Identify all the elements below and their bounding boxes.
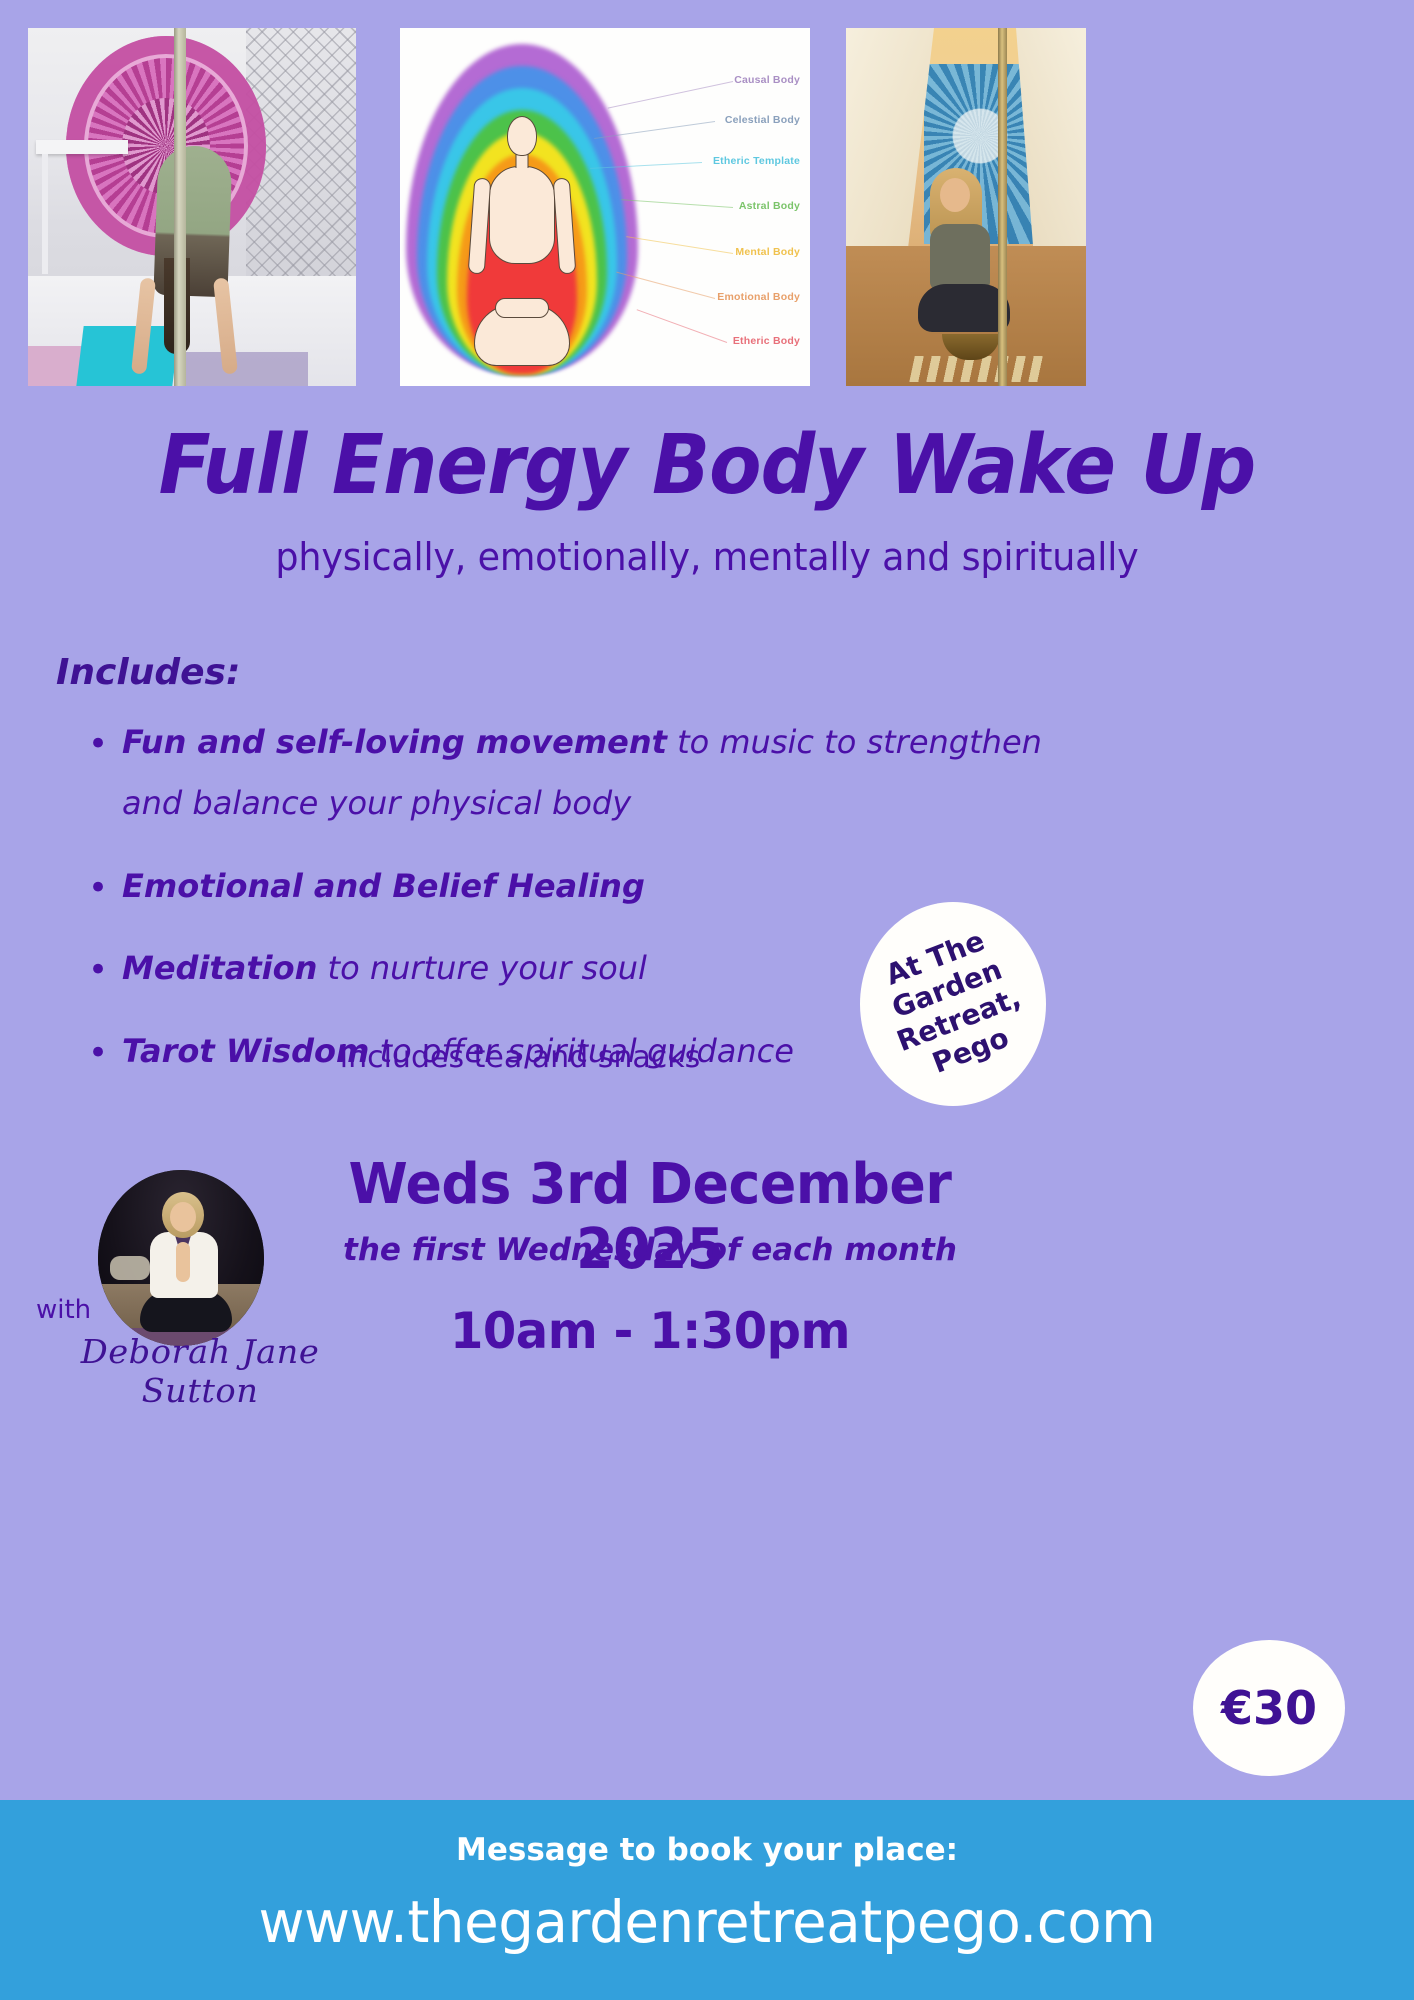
price-badge: €30	[1193, 1640, 1345, 1776]
aura-label: Causal Body	[734, 74, 800, 86]
reader-head	[940, 178, 970, 212]
photo-row: Causal BodyCelestial BodyEtheric Templat…	[0, 28, 1414, 386]
aura-label: Celestial Body	[725, 114, 800, 126]
aura-leader-line	[626, 236, 733, 254]
reader-torso	[930, 224, 990, 290]
includes-heading: Includes:	[56, 652, 240, 693]
event-recurrence: the first Wednesday of each month	[270, 1232, 1030, 1268]
photo-aura-diagram: Causal BodyCelestial BodyEtheric Templat…	[400, 28, 810, 386]
aura-label: Astral Body	[739, 200, 800, 212]
photo-pole-yoga	[28, 28, 356, 386]
price-amount: €30	[1221, 1681, 1317, 1735]
avatar-face	[170, 1202, 196, 1232]
avatar-prop	[110, 1256, 150, 1280]
photo-tarot-tent	[846, 28, 1086, 386]
aura-leader-line	[621, 199, 733, 208]
with-label: with	[36, 1295, 91, 1325]
facilitator-avatar	[98, 1170, 264, 1346]
dance-pole	[174, 28, 186, 386]
facilitator-name: Deborah Jane Sutton	[47, 1332, 353, 1410]
body-hands	[495, 298, 549, 318]
body-torso	[489, 166, 555, 264]
aura-label: Etheric Template	[713, 155, 800, 167]
footer-call-to-action: Message to book your place:	[0, 1832, 1414, 1868]
event-time: 10am - 1:30pm	[285, 1302, 1015, 1360]
studio-table	[36, 140, 128, 154]
body-head	[507, 116, 537, 156]
aura-label: Emotional Body	[717, 291, 800, 303]
poster-title: Full Energy Body Wake Up	[49, 418, 1364, 513]
avatar-hands-namaste	[176, 1242, 190, 1282]
meditating-body-silhouette	[473, 116, 571, 366]
poster-root: Causal BodyCelestial BodyEtheric Templat…	[0, 0, 1414, 2000]
bullet-emphasis: Emotional and Belief Healing	[122, 867, 645, 905]
bullet-emphasis: Fun and self-loving movement	[122, 723, 667, 761]
yoga-mat-lavender	[178, 352, 308, 386]
reader-legs	[918, 284, 1010, 332]
bullet-emphasis: Meditation	[122, 949, 317, 987]
footer-website[interactable]: www.thegardenretreatpego.com	[21, 1888, 1393, 1956]
aura-label-list: Causal BodyCelestial BodyEtheric Templat…	[636, 28, 806, 386]
aura-figure	[406, 42, 638, 374]
location-badge-text: At The Garden Retreat, Pego	[869, 919, 1037, 1089]
includes-bullet-item: Emotional and Belief Healing	[84, 856, 1044, 917]
tent-pole	[998, 28, 1007, 386]
aura-label: Etheric Body	[733, 335, 800, 347]
poster-subtitle: physically, emotionally, mentally and sp…	[28, 535, 1385, 579]
aura-canvas: Causal BodyCelestial BodyEtheric Templat…	[400, 28, 810, 386]
aura-label: Mental Body	[735, 246, 800, 258]
aura-leader-line	[636, 309, 727, 343]
tarot-cards	[909, 356, 1045, 382]
bullet-detail: to nurture your soul	[317, 949, 647, 987]
includes-bullet-item: Fun and self-loving movement to music to…	[84, 712, 1044, 834]
location-badge: At The Garden Retreat, Pego	[860, 902, 1046, 1106]
footer-band: Message to book your place: www.thegarde…	[0, 1800, 1414, 2000]
